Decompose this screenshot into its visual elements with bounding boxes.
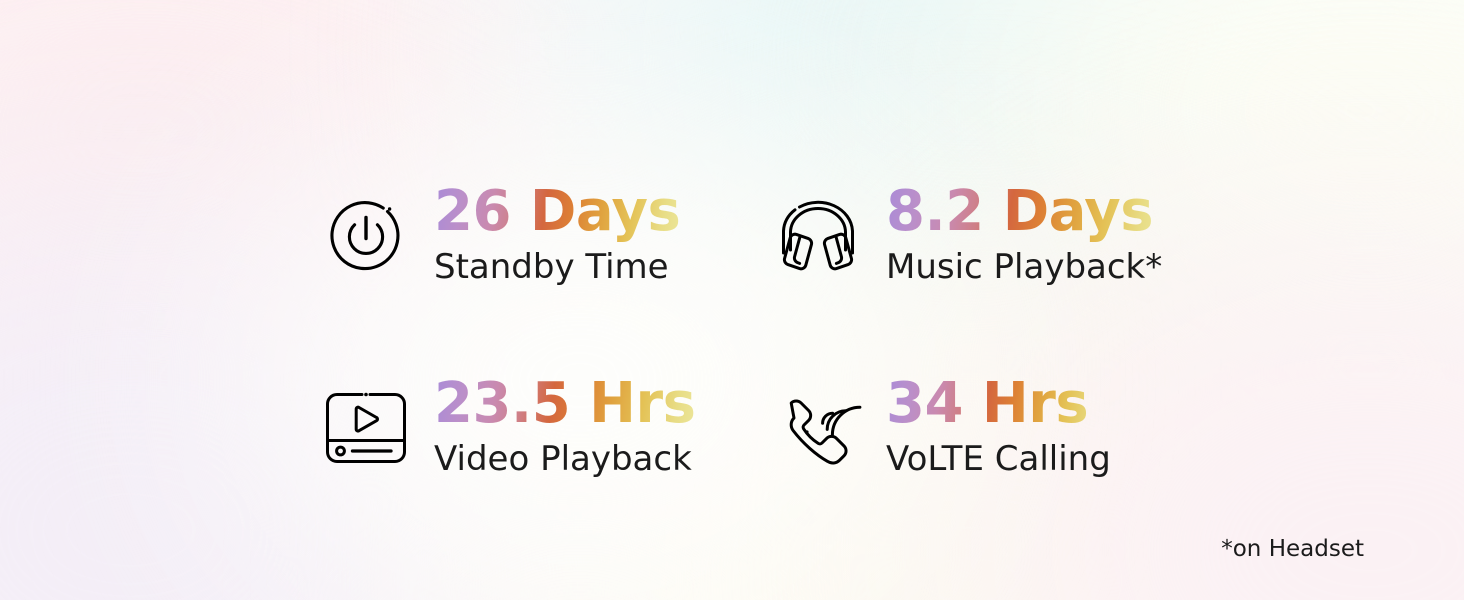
stat-value: 26 Days	[434, 183, 680, 242]
banner-content: 26 Days Standby Time	[0, 0, 1464, 600]
stat-value: 23.5 Hrs	[434, 375, 695, 434]
stat-item-standby-time: 26 Days Standby Time	[318, 140, 770, 332]
power-icon	[318, 188, 414, 284]
stat-label: Standby Time	[434, 246, 680, 289]
stat-label: Video Playback	[434, 438, 695, 481]
footnote: *on Headset	[1221, 536, 1364, 562]
stats-grid: 26 Days Standby Time	[318, 140, 1218, 524]
headphones-icon	[770, 188, 866, 284]
stat-label: Music Playback*	[886, 246, 1162, 289]
stat-text-music-playback: 8.2 Days Music Playback*	[886, 183, 1162, 288]
stat-label: VoLTE Calling	[886, 438, 1111, 481]
phone-call-icon	[770, 380, 866, 476]
battery-specs-banner: 26 Days Standby Time	[0, 0, 1464, 600]
stat-value: 8.2 Days	[886, 183, 1162, 242]
stat-item-video-playback: 23.5 Hrs Video Playback	[318, 332, 770, 524]
stat-text-volte-calling: 34 Hrs VoLTE Calling	[886, 375, 1111, 480]
stat-text-video-playback: 23.5 Hrs Video Playback	[434, 375, 695, 480]
video-player-icon	[318, 380, 414, 476]
stat-item-volte-calling: 34 Hrs VoLTE Calling	[770, 332, 1222, 524]
stat-item-music-playback: 8.2 Days Music Playback*	[770, 140, 1222, 332]
stat-value: 34 Hrs	[886, 375, 1111, 434]
stat-text-standby-time: 26 Days Standby Time	[434, 183, 680, 288]
